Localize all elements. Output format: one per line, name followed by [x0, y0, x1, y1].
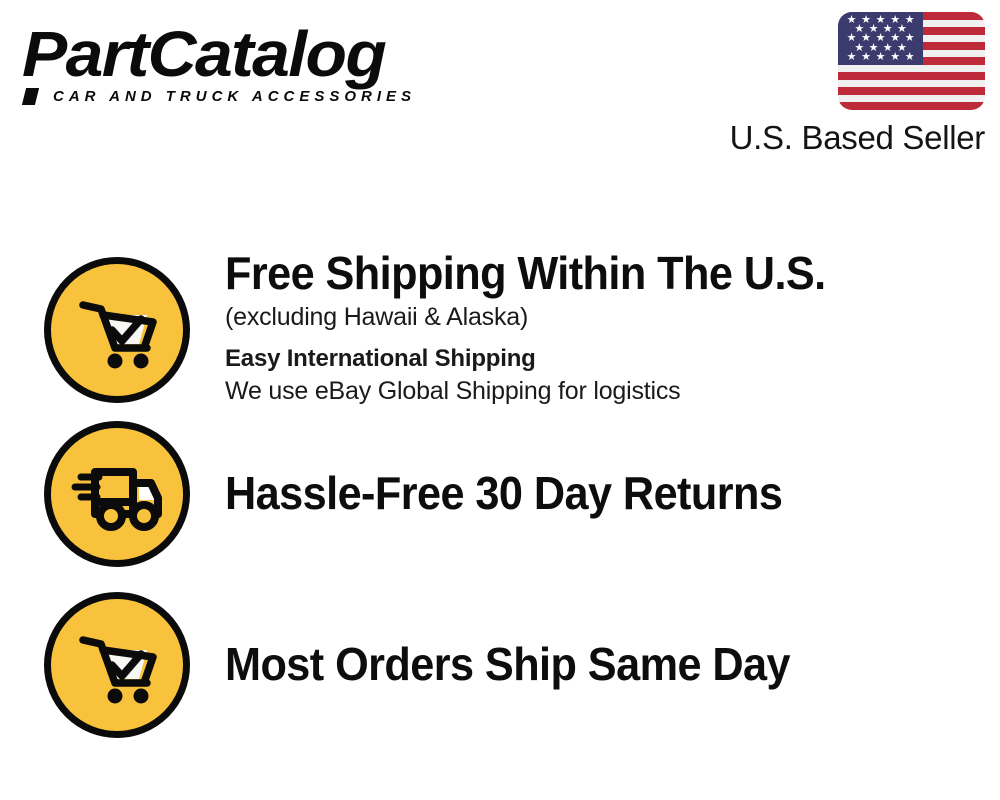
brand-wordmark: PartCatalog — [22, 24, 520, 85]
feature-sub-detail: We use eBay Global Shipping for logistic… — [225, 375, 864, 409]
us-flag-icon: ★★★★★ ★★★★ ★★★★★ ★★★★ ★★★★★ — [838, 12, 985, 110]
brand-tagline: CAR AND TRUCK ACCESSORIES — [53, 88, 416, 105]
brand-logo: PartCatalog CAR AND TRUCK ACCESSORIES — [22, 24, 492, 105]
delivery-truck-icon — [44, 421, 190, 567]
feature-row-free-shipping: Free Shipping Within The U.S. (excluding… — [44, 250, 864, 411]
feature-row-same-day: Most Orders Ship Same Day — [44, 592, 826, 738]
feature-sub-note: (excluding Hawaii & Alaska) — [225, 301, 864, 335]
us-based-seller-badge: ★★★★★ ★★★★ ★★★★★ ★★★★ ★★★★★ U.S. Based S… — [715, 12, 985, 157]
feature-text-same-day: Most Orders Ship Same Day — [225, 641, 826, 690]
feature-sub-title: Easy International Shipping — [225, 343, 864, 375]
feature-headline: Hassle-Free 30 Day Returns — [225, 470, 782, 517]
feature-text-returns: Hassle-Free 30 Day Returns — [225, 470, 818, 519]
brand-tagline-row: CAR AND TRUCK ACCESSORIES — [22, 88, 492, 105]
shopping-cart-check-icon — [44, 257, 190, 403]
feature-headline: Most Orders Ship Same Day — [225, 641, 790, 688]
shopping-cart-check-icon — [44, 592, 190, 738]
feature-text-free-shipping: Free Shipping Within The U.S. (excluding… — [225, 250, 864, 411]
flag-stars: ★★★★★ ★★★★ ★★★★★ ★★★★ ★★★★★ — [838, 12, 923, 65]
seller-label: U.S. Based Seller — [715, 119, 985, 157]
feature-row-returns: Hassle-Free 30 Day Returns — [44, 421, 818, 567]
logo-slash-mark — [22, 88, 39, 105]
feature-headline: Free Shipping Within The U.S. — [225, 250, 826, 297]
